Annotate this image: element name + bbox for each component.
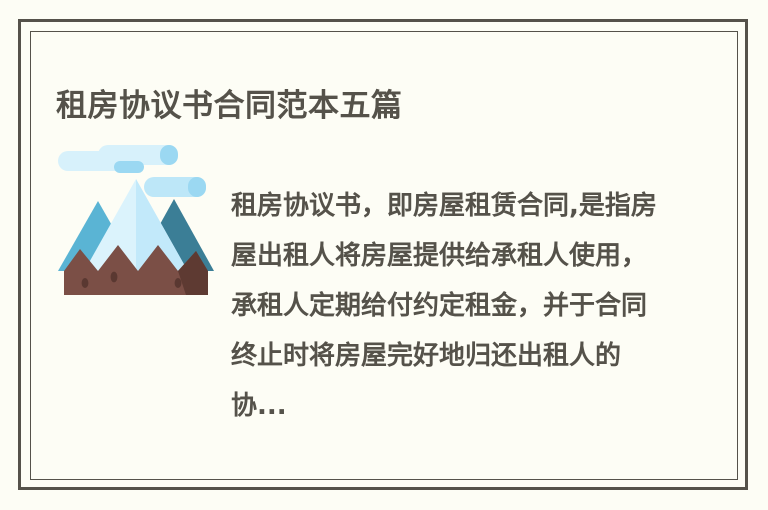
article-body: 租房协议书，即房屋租赁合同,是指房屋出租人将房屋提供给承租人使用，承租人定期给付… (56, 143, 696, 413)
article-card: 租房协议书合同范本五篇 (0, 0, 768, 510)
article-summary: 租房协议书，即房屋租赁合同,是指房屋出租人将房屋提供给承租人使用，承租人定期给付… (231, 181, 661, 431)
page-title: 租房协议书合同范本五篇 (56, 83, 403, 129)
mountain-icon (56, 143, 216, 303)
